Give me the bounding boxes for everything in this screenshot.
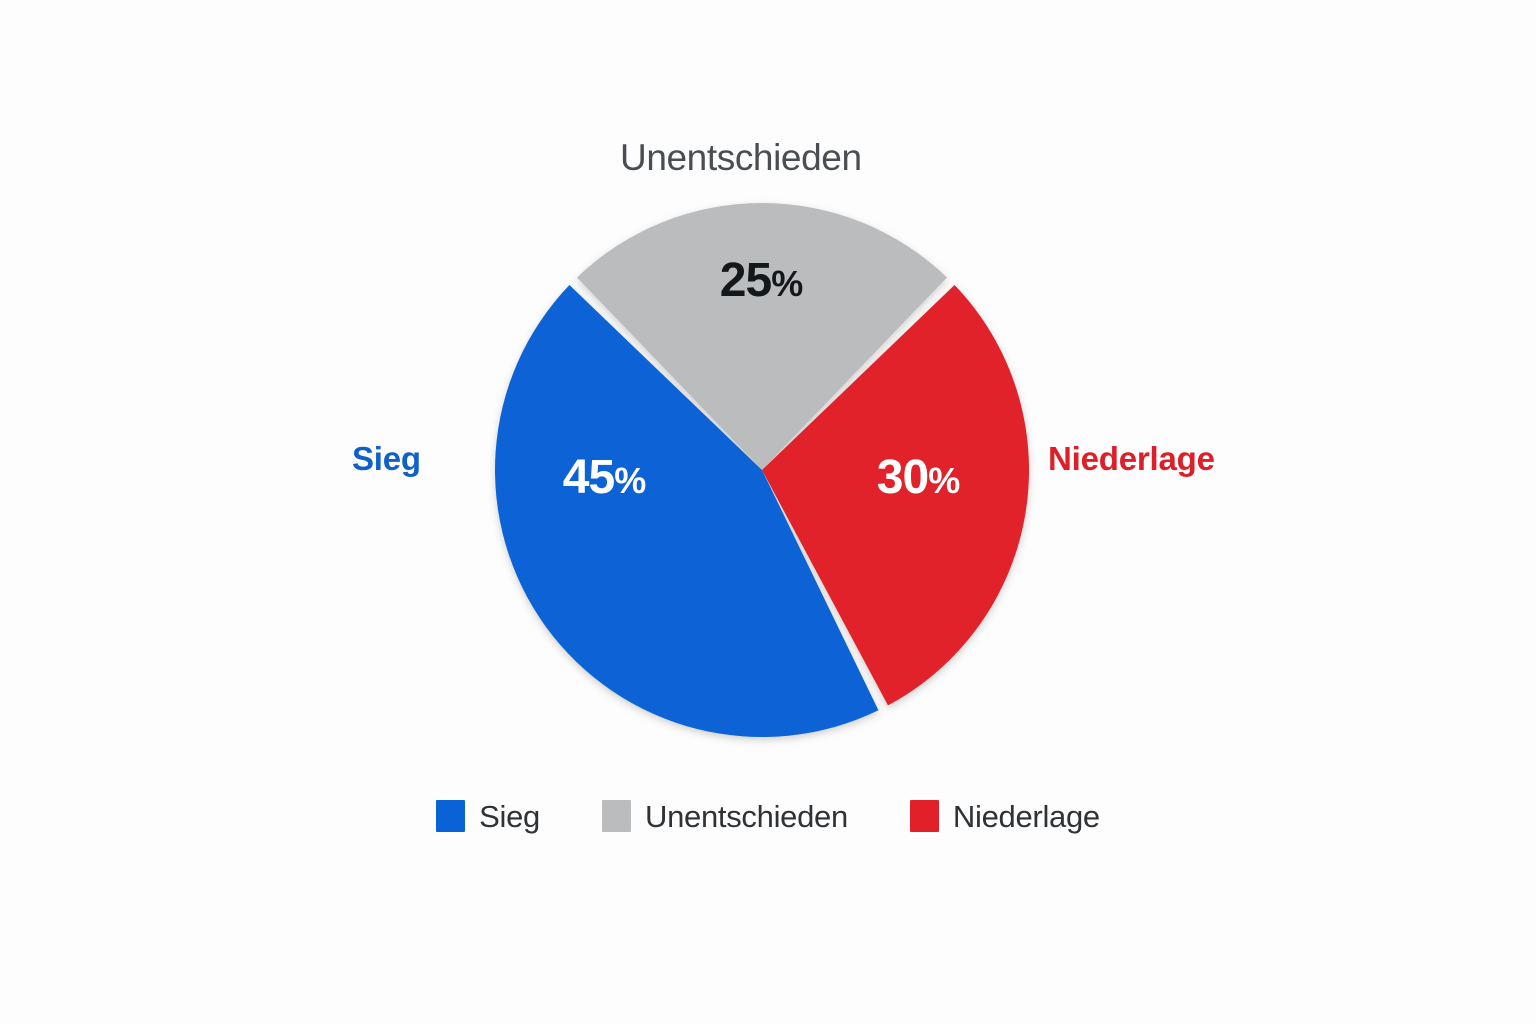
legend-swatch-sieg bbox=[436, 800, 465, 832]
legend-swatch-niederlage bbox=[910, 800, 939, 832]
pie-chart-figure: Unentschieden Sieg Niederlage 25% 45% 30… bbox=[0, 0, 1536, 1024]
legend-item-sieg[interactable]: Sieg bbox=[436, 800, 540, 832]
slice-value-number-unentschieden: 25 bbox=[720, 254, 771, 307]
callout-label-niederlage: Niederlage bbox=[1048, 440, 1215, 478]
slice-value-number-niederlage: 30 bbox=[877, 451, 928, 504]
legend-swatch-unentschieden bbox=[602, 800, 631, 832]
callout-label-unentschieden: Unentschieden bbox=[620, 137, 862, 179]
slice-value-sieg: 45% bbox=[563, 454, 645, 502]
legend-item-unentschieden[interactable]: Unentschieden bbox=[602, 800, 848, 832]
legend-label-sieg: Sieg bbox=[479, 801, 540, 832]
percent-sign-sieg: % bbox=[614, 460, 645, 501]
callout-label-sieg: Sieg bbox=[352, 440, 421, 478]
percent-sign-unentschieden: % bbox=[771, 263, 802, 304]
legend-label-niederlage: Niederlage bbox=[953, 801, 1100, 832]
slice-value-number-sieg: 45 bbox=[563, 451, 614, 504]
legend-item-niederlage[interactable]: Niederlage bbox=[910, 800, 1100, 832]
chart-legend: SiegUnentschiedenNiederlage bbox=[0, 800, 1536, 832]
slice-value-niederlage: 30% bbox=[877, 454, 959, 502]
slice-value-unentschieden: 25% bbox=[720, 257, 802, 305]
percent-sign-niederlage: % bbox=[928, 460, 959, 501]
legend-label-unentschieden: Unentschieden bbox=[645, 801, 848, 832]
